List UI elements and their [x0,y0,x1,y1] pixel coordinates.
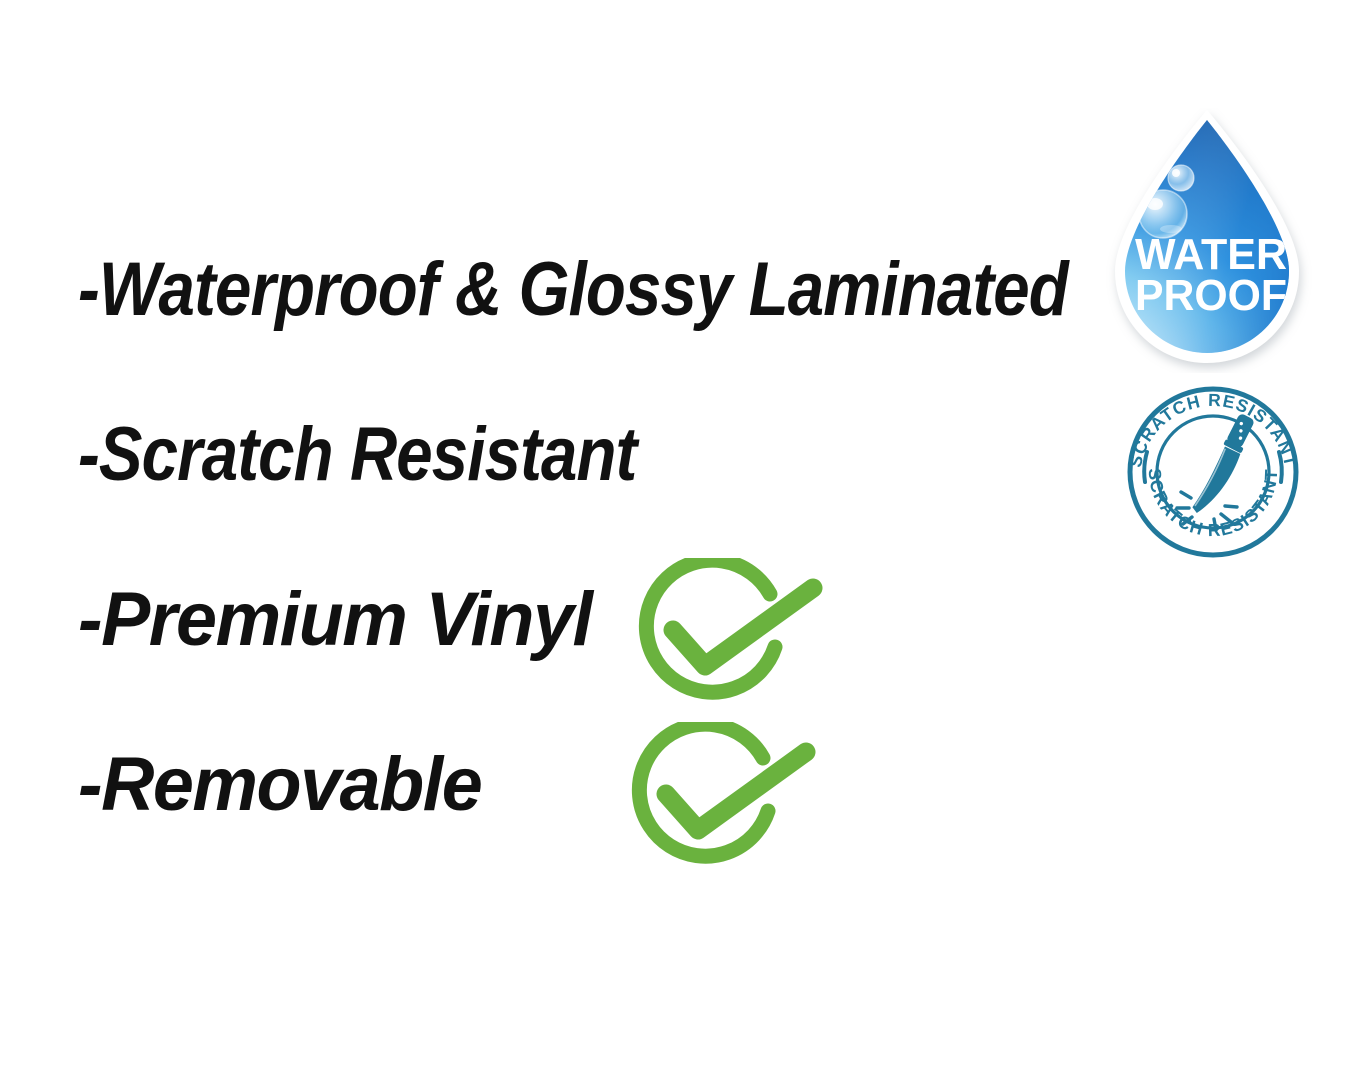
water-bubble-small [1168,165,1194,191]
knife-icon [1191,408,1256,521]
feature-label-scratch-resistant: -Scratch Resistant [78,417,636,493]
checkmark-tick [673,588,813,666]
checkmark-removable [630,722,825,872]
feature-label-removable: -Removable [78,747,481,823]
checkmark-tick [666,752,806,830]
product-features-graphic: -Waterproof & Glossy Laminated -Scratch … [0,0,1359,1080]
feature-label-premium-vinyl: -Premium Vinyl [78,582,592,658]
feature-item-waterproof-glossy-laminated: -Waterproof & Glossy Laminated [78,252,1098,417]
feature-item-premium-vinyl: -Premium Vinyl [78,582,1098,747]
feature-list: -Waterproof & Glossy Laminated -Scratch … [78,252,1098,912]
checkmark-premium-vinyl [637,558,832,708]
feature-label-waterproof-glossy-laminated: -Waterproof & Glossy Laminated [78,252,1068,328]
feature-item-scratch-resistant: -Scratch Resistant [78,417,1098,582]
waterproof-line2: PROOF [1135,271,1287,320]
waterproof-droplet-badge: WATER PROOF [1103,108,1313,373]
feature-item-removable: -Removable [78,747,1098,912]
scratch-resistant-stamp-badge: SCRATCH RESISTANT SCRATCH RESISTANT [1113,386,1313,558]
stamp-text-top: SCRATCH RESISTANT [1125,390,1301,469]
